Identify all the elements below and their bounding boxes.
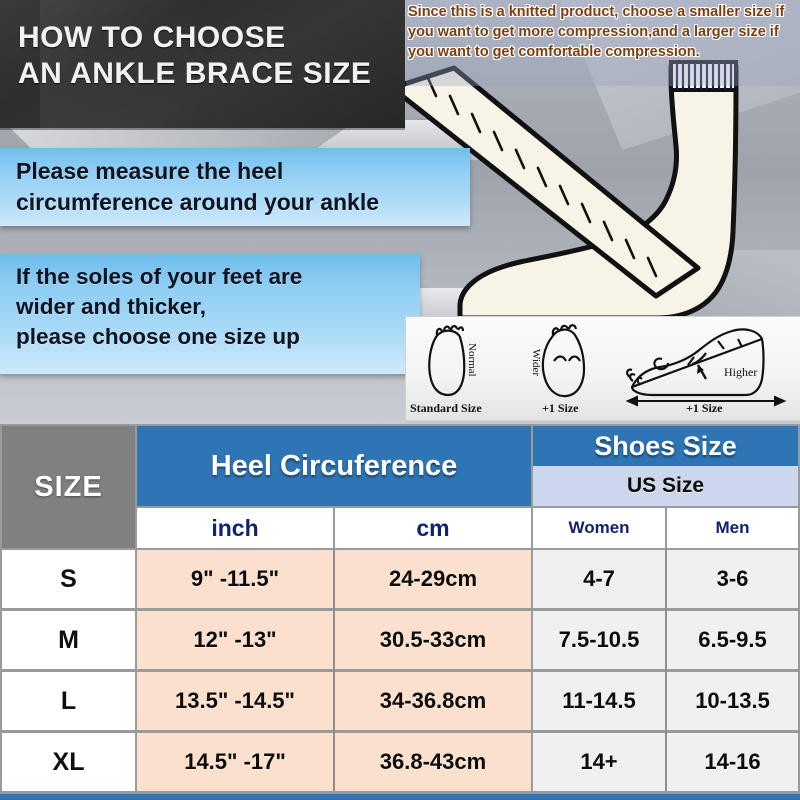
table-row: 13.5" -14.5" <box>137 672 333 730</box>
table-subheader-women: Women <box>533 508 665 548</box>
table-row: 11-14.5 <box>533 672 665 730</box>
size-table: SIZE Heel Circuference Shoes Size US Siz… <box>0 424 800 800</box>
instruction-band-measure: Please measure the heel circumference ar… <box>0 148 470 226</box>
table-subheader-men: Men <box>667 508 798 548</box>
foot-label-normal: Normal <box>466 343 478 377</box>
table-header-us-size: US Size <box>533 466 798 506</box>
title-plate: HOW TO CHOOSE AN ANKLE BRACE SIZE <box>0 0 405 128</box>
table-header-heel-circumference: Heel Circuference <box>137 426 531 506</box>
table-row: 4-7 <box>533 550 665 608</box>
table-row: 10-13.5 <box>667 672 798 730</box>
illustration-region: HOW TO CHOOSE AN ANKLE BRACE SIZE Since … <box>0 0 800 424</box>
table-header-shoes-size: Shoes Size <box>533 426 798 466</box>
table-row: 6.5-9.5 <box>667 611 798 669</box>
table-row: 14-16 <box>667 733 798 791</box>
table-row: XL <box>2 733 135 791</box>
foot-caption-standard: Standard Size <box>410 401 482 416</box>
size-chart-page: HOW TO CHOOSE AN ANKLE BRACE SIZE Since … <box>0 0 800 800</box>
table-divider <box>665 550 667 791</box>
foot-label-wider: Wider <box>530 349 542 376</box>
instruction-band-soles: If the soles of your feet are wider and … <box>0 254 420 374</box>
instruction-text-2: If the soles of your feet are wider and … <box>16 262 412 352</box>
bottom-accent-bar <box>0 794 800 800</box>
table-row: 14.5" -17" <box>137 733 333 791</box>
table-row: 30.5-33cm <box>335 611 531 669</box>
table-row: 3-6 <box>667 550 798 608</box>
table-row: 36.8-43cm <box>335 733 531 791</box>
table-row: 7.5-10.5 <box>533 611 665 669</box>
foot-label-higher: Higher <box>724 365 757 380</box>
table-divider <box>333 550 335 791</box>
table-row: S <box>2 550 135 608</box>
table-row: 9" -11.5" <box>137 550 333 608</box>
table-row: M <box>2 611 135 669</box>
page-title: HOW TO CHOOSE AN ANKLE BRACE SIZE <box>18 20 398 92</box>
foot-comparison-panel: Normal Wider Higher Standard Size +1 Siz… <box>405 316 800 421</box>
table-header-size: SIZE <box>2 426 135 548</box>
knitted-product-notice: Since this is a knitted product, choose … <box>408 2 800 62</box>
foot-caption-wider: +1 Size <box>542 401 579 416</box>
instruction-text-1: Please measure the heel circumference ar… <box>16 156 462 218</box>
table-row: 34-36.8cm <box>335 672 531 730</box>
table-subheader-inch: inch <box>137 508 333 548</box>
foot-caption-higher: +1 Size <box>686 401 723 416</box>
table-subheader-cm: cm <box>335 508 531 548</box>
table-row: L <box>2 672 135 730</box>
table-row: 12" -13" <box>137 611 333 669</box>
table-row: 24-29cm <box>335 550 531 608</box>
table-row: 14+ <box>533 733 665 791</box>
